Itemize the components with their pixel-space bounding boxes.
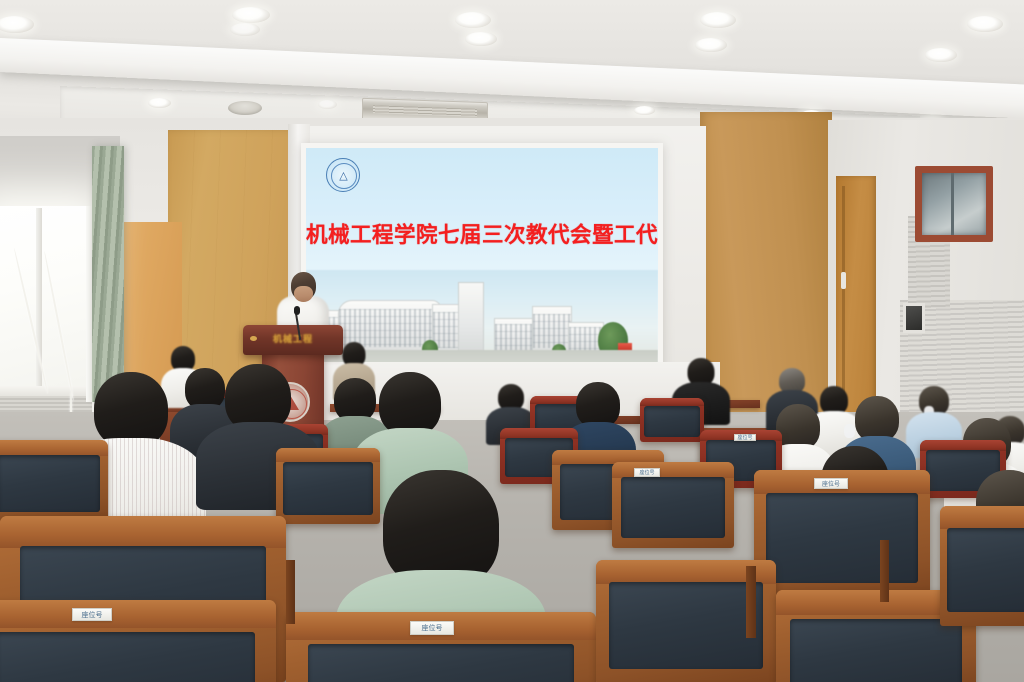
projection-screen: △ 机械工程学院七届三次教代会暨工代会: [306, 148, 658, 366]
ceiling-downlight: [232, 7, 270, 23]
chair-leg: [746, 566, 756, 638]
chair[interactable]: [640, 398, 704, 442]
ceiling-speaker-dome: [228, 101, 262, 115]
ceiling-downlight: [700, 12, 736, 28]
chair-leg: [880, 540, 889, 602]
chair-top-rail: [0, 516, 286, 548]
chair-top-rail: [0, 440, 108, 456]
chair-pad: [308, 644, 575, 682]
exterior-window: [0, 206, 86, 396]
chair-pad: [644, 406, 699, 437]
ceiling-downlight: [148, 98, 171, 108]
chair-pad: [766, 493, 917, 583]
slide-title: 机械工程学院七届三次教代会暨工代会: [306, 218, 658, 249]
chair-top-rail: [920, 440, 1006, 451]
seat-label: 座位号: [410, 621, 454, 635]
ceiling-downlight: [465, 32, 497, 46]
chair-top-rail: [940, 506, 1024, 529]
chair-pad: [609, 582, 764, 669]
chair[interactable]: 座位号: [286, 612, 596, 682]
chair[interactable]: [0, 440, 108, 522]
university-seal-logo: △: [326, 158, 360, 192]
chair-leg: [286, 560, 295, 624]
ceiling-downlight: [925, 48, 957, 62]
chair[interactable]: [940, 506, 1024, 626]
chair-pad: [0, 632, 255, 682]
window-curtain[interactable]: [92, 146, 124, 402]
ceiling-downlight: [230, 23, 260, 36]
seat-label: 座位号: [814, 478, 848, 489]
ceiling-downlight: [634, 106, 655, 115]
chair[interactable]: 座位号: [612, 462, 734, 548]
chair-pad: [621, 477, 726, 537]
chair-pad: [947, 528, 1024, 612]
ceiling-downlight: [967, 16, 1003, 32]
projection-booth-window: [915, 166, 993, 242]
presenter-face: [294, 286, 313, 302]
conference-hall-photo: △ 机械工程学院七届三次教代会暨工代会 机械工程: [0, 0, 1024, 682]
attendee-head: [94, 372, 168, 448]
chair-top-rail: [0, 600, 276, 628]
chair-top-rail: [500, 428, 578, 439]
chair[interactable]: 座位号: [0, 600, 276, 682]
podium-indicator-light: [250, 336, 257, 341]
chair-top-rail: [612, 462, 734, 478]
podium-top-panel: 机械工程: [243, 325, 343, 355]
chair-pad: [790, 619, 962, 682]
podium-front-text: 机械工程: [243, 332, 343, 345]
face-mask: [844, 424, 855, 438]
door-handle[interactable]: [841, 272, 846, 289]
seat-label: 座位号: [634, 468, 660, 477]
ceiling-downlight: [695, 38, 727, 52]
chair-top-rail: [276, 448, 380, 462]
attendee-head: [379, 372, 441, 436]
ceiling-downlight: [455, 12, 491, 28]
campus-tower: [458, 282, 484, 356]
microphone-head: [294, 306, 300, 315]
seat-label: 座位号: [72, 608, 112, 621]
campus-banner: [618, 343, 632, 350]
chair[interactable]: 座位号: [754, 470, 930, 598]
seal-monogram: △: [339, 169, 346, 182]
ceiling-downlight: [318, 100, 337, 109]
wall-mounted-sensor: [903, 303, 925, 333]
seat-label: 座位号: [734, 434, 756, 441]
chair-pad: [0, 455, 100, 512]
